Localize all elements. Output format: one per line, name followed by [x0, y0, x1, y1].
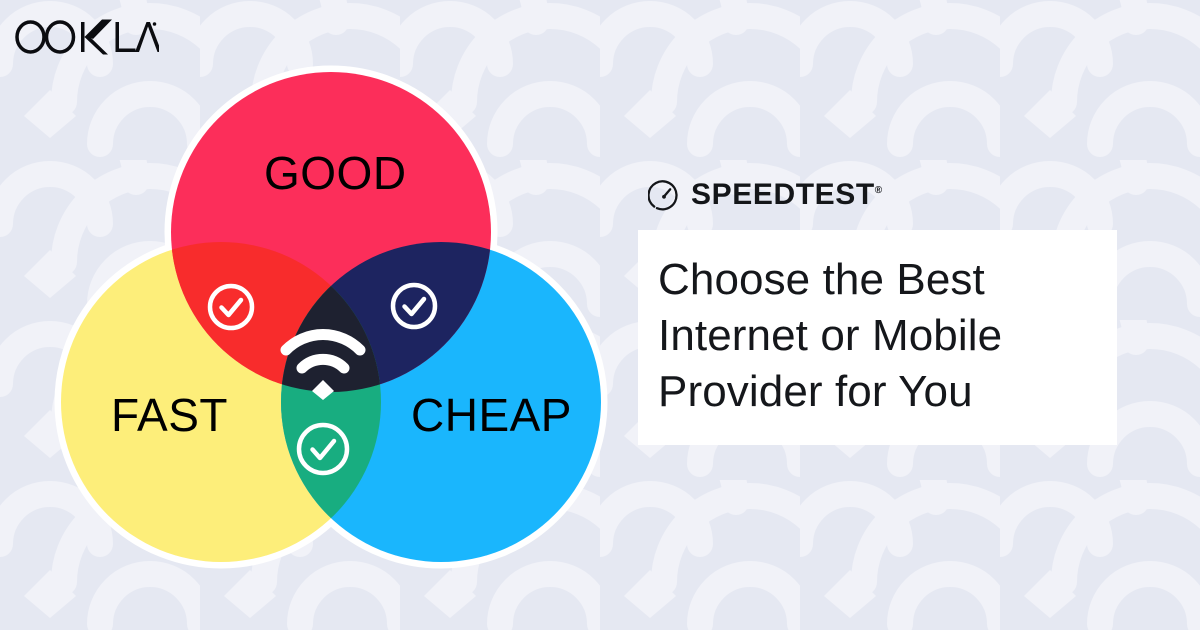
venn-label-cheap: CHEAP	[411, 392, 572, 438]
ookla-logo	[14, 17, 159, 57]
venn-label-good: GOOD	[264, 150, 407, 196]
venn-diagram	[46, 62, 616, 572]
venn-label-fast: FAST	[111, 392, 228, 438]
speedtest-wordmark: SPEEDTEST®	[691, 180, 882, 210]
headline-card: Choose the Best Internet or Mobile Provi…	[638, 230, 1117, 445]
page-title: Choose the Best Internet or Mobile Provi…	[658, 252, 1098, 420]
registered-trademark-symbol: ®	[875, 185, 882, 196]
promo-graphic: GOOD FAST CHEAP SPEEDTEST® Choose the Be…	[0, 0, 1200, 630]
speedtest-text: SPEEDTEST	[691, 178, 875, 211]
speedtest-logo: SPEEDTEST®	[648, 178, 882, 212]
speedometer-icon	[648, 179, 680, 211]
